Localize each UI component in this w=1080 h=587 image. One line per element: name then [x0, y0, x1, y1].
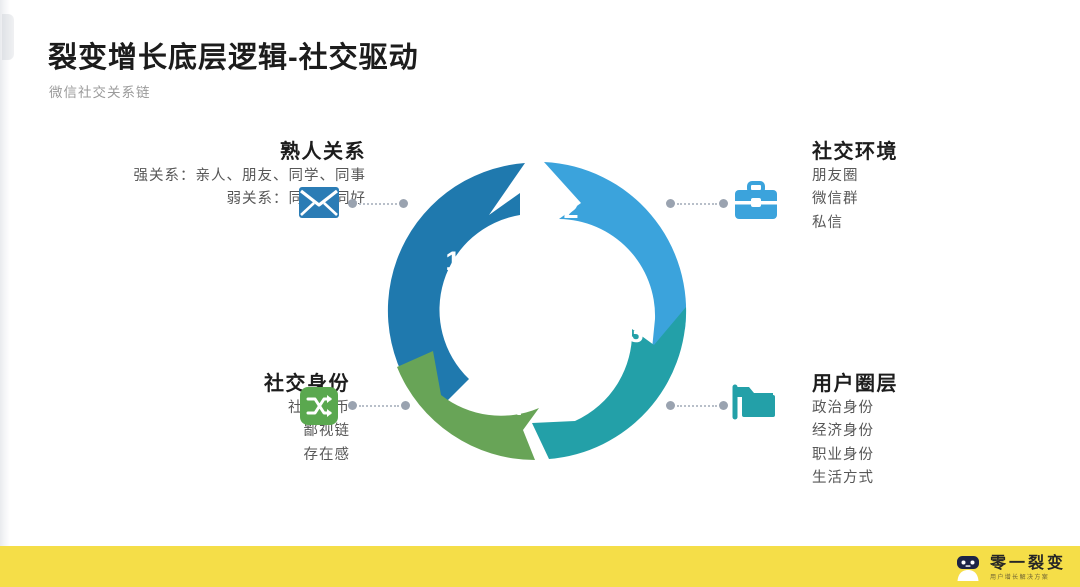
left-edge-tab — [2, 14, 14, 60]
block-bottom-right-heading: 用户圈层 — [812, 372, 898, 397]
cycle-number-2: 2 — [563, 194, 578, 224]
slide-canvas: 裂变增长底层逻辑-社交驱动 微信社交关系链 熟人关系 强关系：亲人、朋友、同学、… — [0, 0, 1080, 587]
block-top-right-line-2: 微信群 — [812, 188, 898, 211]
brand-name: 零一裂变 — [990, 556, 1066, 572]
block-bottom-right-line-2: 经济身份 — [812, 420, 898, 443]
cycle-number-1: 1 — [445, 246, 460, 276]
robot-mascot-icon — [953, 553, 983, 583]
brand-logo: 零一裂变 用户增长解决方案 — [953, 553, 1066, 583]
shuffle-icon — [300, 387, 338, 430]
cycle-center-hole — [459, 233, 615, 389]
brand-tagline: 用户增长解决方案 — [990, 575, 1049, 581]
cycle-number-3: 3 — [628, 318, 643, 348]
page-title: 裂变增长底层逻辑-社交驱动 — [48, 34, 419, 76]
folder-icon — [732, 383, 778, 426]
connector-dot-end — [719, 199, 728, 208]
block-bottom-right-line-3: 职业身份 — [812, 444, 898, 467]
block-bottom-right-line-1: 政治身份 — [812, 397, 898, 420]
left-edge-shadow — [0, 0, 10, 587]
block-top-left-heading: 熟人关系 — [134, 140, 367, 165]
block-top-right-heading: 社交环境 — [812, 140, 898, 165]
briefcase-icon — [733, 181, 779, 226]
envelope-icon — [299, 187, 339, 223]
block-bottom-right: 用户圈层 政治身份 经济身份 职业身份 生活方式 — [812, 372, 898, 491]
page-subtitle: 微信社交关系链 — [49, 81, 151, 101]
block-top-right: 社交环境 朋友圈 微信群 私信 — [812, 140, 898, 235]
cycle-number-4: 4 — [508, 391, 523, 421]
block-bottom-right-line-4: 生活方式 — [812, 467, 898, 490]
block-top-right-line-3: 私信 — [812, 212, 898, 235]
block-top-right-line-1: 朋友圈 — [812, 165, 898, 188]
connector-dot-start — [348, 401, 357, 410]
footer-bar: 零一裂变 用户增长解决方案 — [0, 546, 1080, 587]
block-bottom-left-line-3: 存在感 — [264, 444, 350, 467]
block-top-left-line-1: 强关系：亲人、朋友、同学、同事 — [134, 165, 367, 188]
connector-dot-end — [719, 401, 728, 410]
cycle-diagram: 1 2 3 4 — [378, 152, 696, 470]
connector-dot-start — [348, 199, 357, 208]
brand-text: 零一裂变 用户增长解决方案 — [990, 556, 1066, 581]
